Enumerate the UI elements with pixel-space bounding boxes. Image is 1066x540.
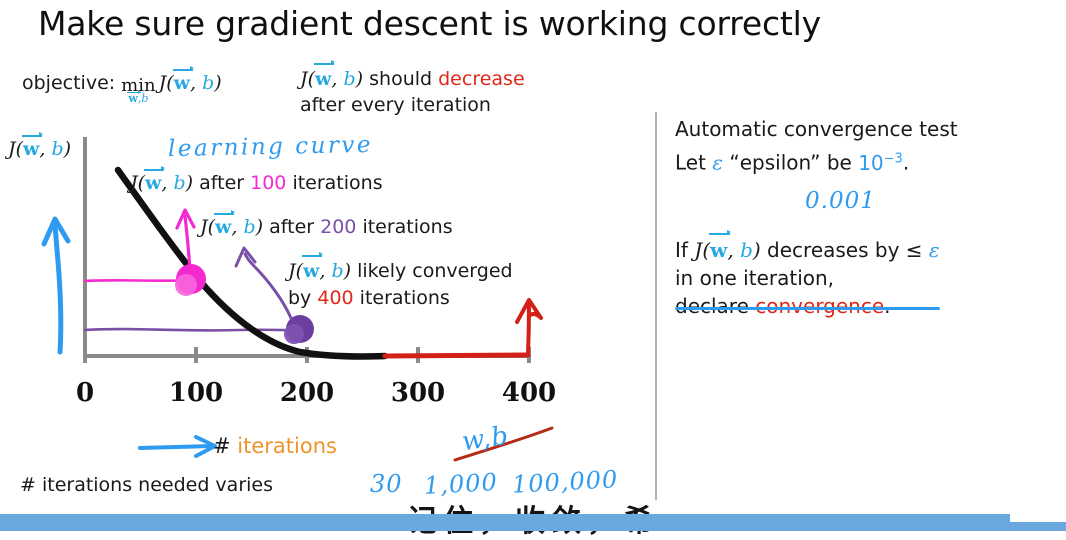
iterations-word: iterations [354, 287, 450, 309]
epsilon-symbol: ε [712, 151, 723, 175]
x-tick-label-100: 100 [161, 378, 231, 408]
min-operator: min w,b [121, 77, 155, 104]
hash-symbol: # [213, 434, 231, 458]
marker-200-arrow [236, 248, 291, 318]
x-tick-label-300: 300 [383, 378, 453, 408]
handwritten-epsilon-value: 0.001 [805, 188, 876, 214]
iterations-word: iterations [292, 172, 382, 194]
iterations-word: iterations [362, 216, 452, 238]
iteration-count-400: 400 [317, 287, 353, 309]
x-tick-100 [194, 347, 198, 363]
convergence-condition-line2: in one iteration, [675, 264, 940, 292]
iteration-count-200: 200 [320, 216, 356, 238]
b-subscript: b [141, 92, 148, 105]
after-word: after [269, 216, 314, 238]
reference-line-100 [85, 280, 196, 281]
y-axis-label: J(w, b) [8, 138, 71, 160]
should-decrease-note: J(w, b) should decrease after every iter… [300, 66, 525, 118]
epsilon-symbol: ε [929, 238, 940, 262]
epsilon-quoted: “epsilon” be [723, 151, 858, 175]
x-tick-200 [305, 347, 309, 363]
let-word: Let [675, 151, 712, 175]
x-tick-400 [527, 347, 531, 363]
annotation-converged-line2: by 400 iterations [288, 285, 513, 312]
vector-w-icon: w [215, 216, 231, 238]
x-axis-caption: # iterations [213, 434, 337, 458]
video-progress-fill [0, 514, 1066, 531]
vector-w-icon: w [145, 172, 161, 194]
annotation-after-100: J(w, b) after 100 iterations [130, 172, 383, 194]
learning-curve-handwritten-label: learning curve [168, 132, 373, 162]
objective-expression: objective: min w,b J(w, b) [22, 72, 222, 102]
vector-w-icon: w [315, 66, 331, 92]
convergence-condition-line3: declare convergence. [675, 292, 940, 320]
video-progress-bar[interactable] [0, 514, 1066, 531]
convergence-underline [675, 307, 940, 310]
b-variable: b [202, 72, 214, 94]
page-title: Make sure gradient descent is working co… [38, 4, 821, 44]
marker-100-arrow [177, 210, 194, 272]
vector-w-icon: w [303, 258, 319, 285]
cost-function-expression: J(w, b) [300, 68, 363, 90]
cost-comma: , [190, 72, 202, 94]
likely-converged-text: likely converged [357, 260, 512, 282]
handwritten-30: 30 [370, 470, 403, 498]
period: . [884, 294, 890, 318]
progress-bar-notch [1010, 510, 1066, 522]
reference-line-200 [85, 329, 308, 330]
convergence-condition-line1: If J(w, b) decreases by ≤ ε [675, 236, 940, 264]
x-tick-0 [83, 347, 87, 363]
panel-divider [655, 112, 657, 500]
cost-function-expression: J(w, b) [159, 72, 222, 94]
marker-100 [175, 264, 206, 296]
epsilon-value: 10−3 [858, 151, 903, 175]
convergence-test-panel: Automatic convergence test Let ε “epsilo… [675, 114, 1055, 178]
objective-label: objective: [22, 72, 115, 94]
y-axis-direction-arrow [44, 219, 68, 352]
handwritten-wb-crossed: w,b [460, 421, 511, 457]
slide-canvas: Make sure gradient descent is working co… [0, 0, 1066, 531]
min-operator-subscript: w,b [128, 93, 148, 104]
annotation-converged: J(w, b) likely converged by 400 iteratio… [288, 258, 513, 312]
x-axis-caption-arrow [140, 437, 215, 456]
decrease-highlight: decrease [438, 68, 525, 90]
vector-w-icon: w [23, 138, 39, 160]
should-decrease-line2: after every iteration [300, 92, 525, 118]
vector-w-icon: w [174, 72, 190, 94]
declare-word: declare [675, 294, 755, 318]
by-word: by [288, 287, 317, 309]
iterations-needed-note: # iterations needed varies [20, 474, 273, 496]
should-word: should [369, 68, 432, 90]
iteration-count-100: 100 [250, 172, 286, 194]
should-decrease-line1: J(w, b) should decrease [300, 66, 525, 92]
after-word: after [199, 172, 244, 194]
annotation-converged-line1: J(w, b) likely converged [288, 258, 513, 285]
vector-w-icon: w [710, 236, 727, 264]
x-tick-label-0: 0 [50, 378, 120, 408]
handwritten-100000: 100,000 [511, 465, 619, 499]
cost-close-paren: ) [214, 72, 221, 94]
x-tick-label-400: 400 [494, 378, 564, 408]
x-tick-label-200: 200 [272, 378, 342, 408]
x-tick-300 [416, 347, 420, 363]
y-axis-line [83, 137, 87, 357]
convergence-panel-title: Automatic convergence test [675, 114, 1055, 144]
annotation-after-200: J(w, b) after 200 iterations [200, 216, 453, 238]
vector-w-subscript: w [128, 93, 137, 104]
marker-200 [284, 315, 314, 344]
epsilon-definition-line: Let ε “epsilon” be 10−3. [675, 144, 1055, 178]
cost-open-paren: J( [159, 72, 174, 94]
period: . [903, 151, 909, 175]
iterations-label: iterations [237, 434, 337, 458]
convergence-highlight: convergence [755, 294, 884, 318]
